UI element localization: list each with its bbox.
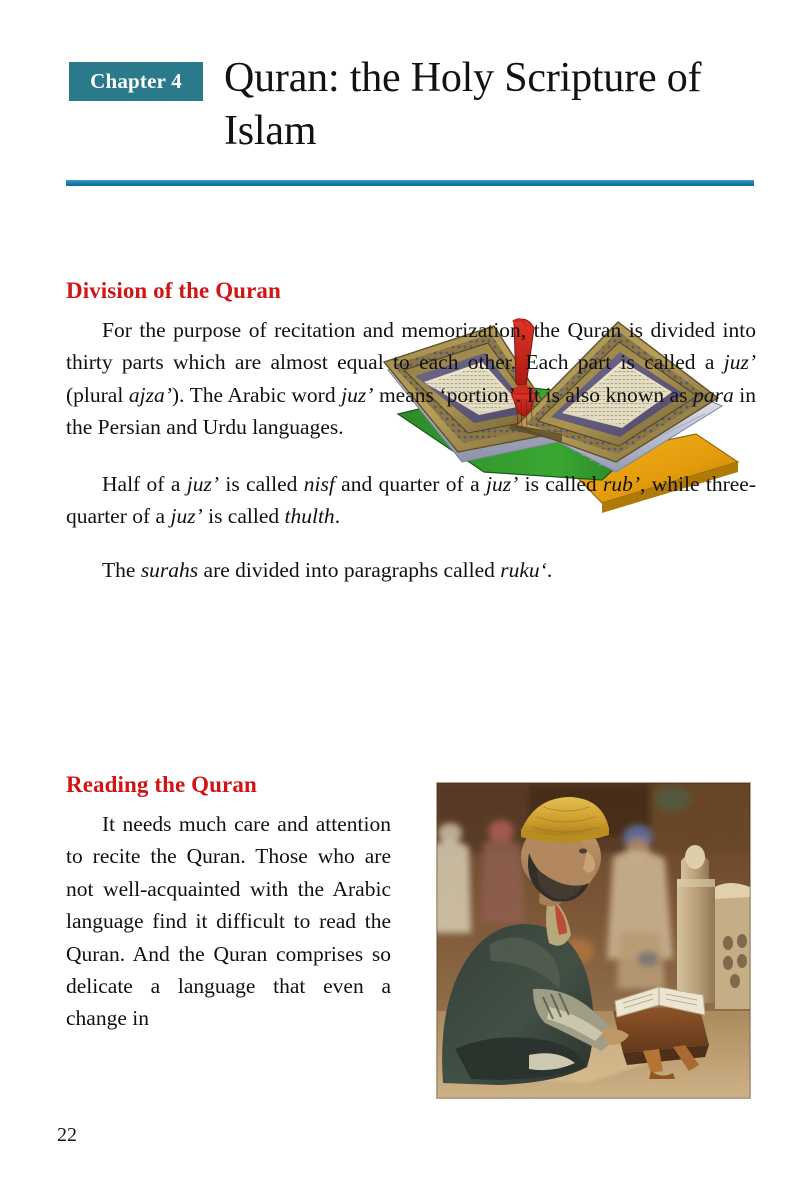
text-run: are divided into paragraphs called — [198, 558, 500, 582]
italic-surahs: surahs — [141, 558, 198, 582]
header-divider-rule — [66, 180, 754, 186]
section-division-of-the-quran: Division of the Quran For the purpose of… — [66, 278, 756, 587]
italic-thulth: thulth — [285, 504, 335, 528]
text-run: (plural — [66, 383, 129, 407]
text-run: ). The Arabic word — [172, 383, 341, 407]
text-run: means ‘portion’. It is also known as — [373, 383, 693, 407]
section-heading-division: Division of the Quran — [66, 278, 756, 304]
text-run: is called — [203, 504, 285, 528]
text-run: For the purpose of recitation and memori… — [66, 318, 756, 374]
italic-juz-4: juz’ — [486, 472, 518, 496]
italic-nisf: nisf — [304, 472, 335, 496]
italic-ruku: ruku‘ — [500, 558, 547, 582]
text-run: . — [335, 504, 340, 528]
document-page: Chapter 4 Quran: the Holy Scripture of I… — [0, 0, 800, 1182]
section-reading-the-quran: Reading the Quran It needs much care and… — [66, 772, 756, 1128]
section-heading-reading: Reading the Quran — [66, 772, 756, 798]
italic-juz: juz’ — [724, 350, 756, 374]
page-title: Quran: the Holy Scripture of Islam — [224, 52, 764, 159]
chapter-badge: Chapter 4 — [70, 63, 202, 100]
text-run: Half of a — [102, 472, 187, 496]
text-run: The — [102, 558, 141, 582]
italic-juz-2: juz’ — [341, 383, 373, 407]
page-number: 22 — [57, 1124, 77, 1147]
italic-para: para — [693, 383, 734, 407]
paragraph-reading-1: It needs much care and attention to reci… — [66, 808, 391, 1035]
text-run: is called — [518, 472, 603, 496]
photo-wrap-shim — [428, 808, 756, 1128]
text-run: and quarter of a — [335, 472, 486, 496]
text-run: . — [547, 558, 552, 582]
italic-ajza: ajza’ — [129, 383, 172, 407]
text-run: is called — [219, 472, 304, 496]
italic-juz-3: juz’ — [187, 472, 219, 496]
italic-rub: rub’ — [603, 472, 640, 496]
italic-juz-5: juz’ — [170, 504, 202, 528]
